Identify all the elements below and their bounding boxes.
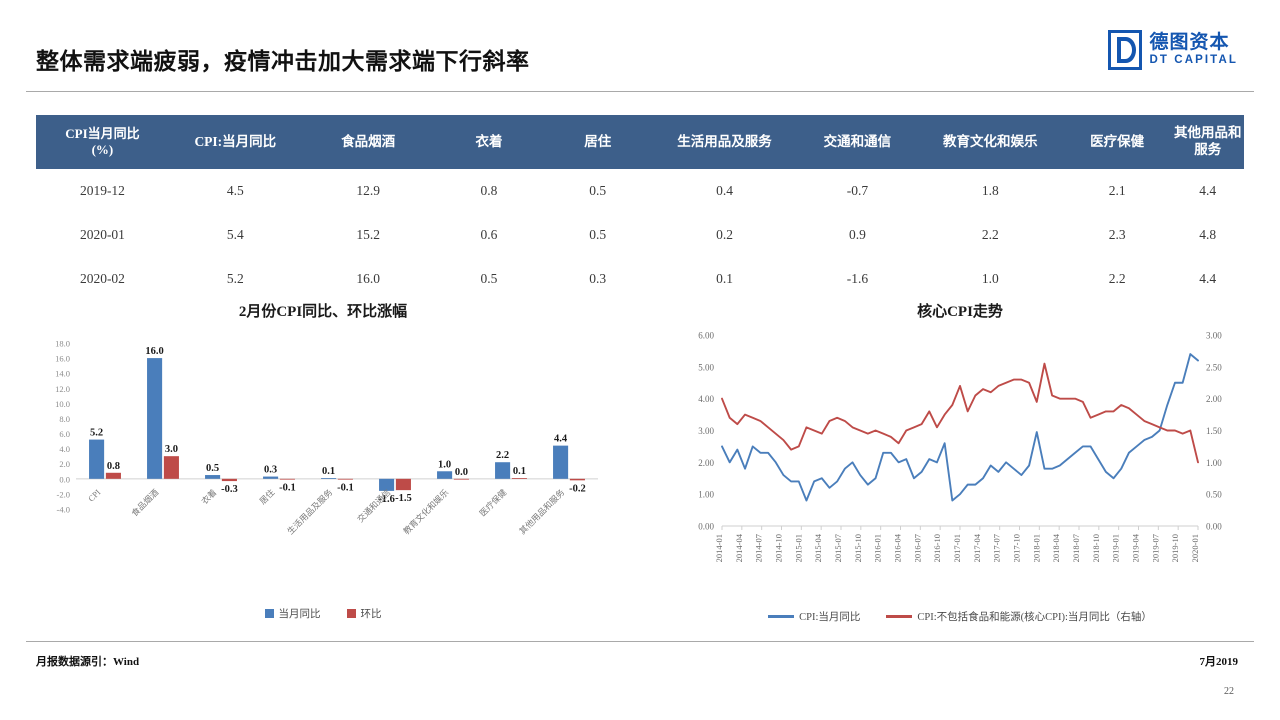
svg-text:5.2: 5.2 xyxy=(90,428,103,439)
svg-text:-2.0: -2.0 xyxy=(57,489,70,499)
table-cell: 4.5 xyxy=(169,169,302,213)
table-col-header-7: 教育文化和娱乐 xyxy=(918,115,1063,169)
table-cell: 15.2 xyxy=(302,213,435,257)
table-cell: 0.5 xyxy=(543,169,652,213)
legend-item-yoy: 当月同比 xyxy=(265,606,321,621)
svg-text:5.00: 5.00 xyxy=(698,362,714,372)
svg-text:2016-10: 2016-10 xyxy=(932,534,942,562)
svg-text:2019-04: 2019-04 xyxy=(1131,533,1141,562)
line-chart-plot-area: 6.005.004.003.002.001.000.003.002.502.00… xyxy=(660,321,1260,609)
svg-text:0.8: 0.8 xyxy=(107,461,120,472)
table-header: CPI当月同比(%)CPI:当月同比食品烟酒衣着居住生活用品及服务交通和通信教育… xyxy=(36,115,1244,169)
svg-text:2015-10: 2015-10 xyxy=(853,534,863,562)
svg-text:6.00: 6.00 xyxy=(698,331,714,341)
svg-text:12.0: 12.0 xyxy=(55,384,70,394)
svg-text:0.00: 0.00 xyxy=(1206,522,1222,532)
svg-text:-0.1: -0.1 xyxy=(279,483,296,494)
table-cell: 5.4 xyxy=(169,213,302,257)
svg-text:8.0: 8.0 xyxy=(59,414,70,424)
table-cell: 2.2 xyxy=(918,213,1063,257)
table-cell-period: 2020-02 xyxy=(36,257,169,301)
svg-text:2019-01: 2019-01 xyxy=(1111,534,1121,562)
svg-text:6.0: 6.0 xyxy=(59,429,70,439)
table-row: 2019-124.512.90.80.50.4-0.71.82.14.4 xyxy=(36,169,1244,213)
slide-header: 整体需求端疲弱，疫情冲击加大需求端下行斜率 德图资本 DT CAPITAL xyxy=(0,0,1280,92)
table-cell: 2.1 xyxy=(1063,169,1172,213)
table-cell: 1.8 xyxy=(918,169,1063,213)
svg-text:交通和通信: 交通和通信 xyxy=(355,487,392,524)
svg-text:16.0: 16.0 xyxy=(145,346,163,357)
table-col-header-1: CPI:当月同比 xyxy=(169,115,302,169)
svg-text:2017-04: 2017-04 xyxy=(972,533,982,562)
legend-label-yoy: 当月同比 xyxy=(279,606,321,621)
page-title: 整体需求端疲弱，疫情冲击加大需求端下行斜率 xyxy=(36,42,530,76)
svg-text:0.0: 0.0 xyxy=(455,467,468,478)
logo-name-en: DT CAPITAL xyxy=(1149,55,1238,67)
table-cell: 2.3 xyxy=(1063,213,1172,257)
svg-text:3.0: 3.0 xyxy=(165,444,178,455)
legend-label-mom: 环比 xyxy=(361,606,382,621)
table-cell: 0.6 xyxy=(435,213,544,257)
table-header-row: CPI当月同比(%)CPI:当月同比食品烟酒衣着居住生活用品及服务交通和通信教育… xyxy=(36,115,1244,169)
svg-text:2020-01: 2020-01 xyxy=(1190,534,1200,562)
table-col-header-5: 生活用品及服务 xyxy=(652,115,797,169)
legend-item-core-cpi: CPI:不包括食品和能源(核心CPI):当月同比（右轴） xyxy=(886,609,1152,624)
legend-swatch-yoy xyxy=(265,609,274,618)
svg-text:2.0: 2.0 xyxy=(59,459,70,469)
svg-text:-0.3: -0.3 xyxy=(221,484,238,495)
table-cell: 0.8 xyxy=(435,169,544,213)
svg-text:4.0: 4.0 xyxy=(59,444,70,454)
svg-text:-4.0: -4.0 xyxy=(57,505,70,515)
svg-text:18.0: 18.0 xyxy=(55,339,70,349)
footer-source: 月报数据源引：Wind xyxy=(36,653,139,669)
svg-text:2.00: 2.00 xyxy=(1206,394,1222,404)
table-cell: 4.8 xyxy=(1171,213,1244,257)
logo-name-cn: 德图资本 xyxy=(1149,33,1238,52)
company-logo: 德图资本 DT CAPITAL xyxy=(1108,27,1238,73)
svg-text:CPI: CPI xyxy=(86,487,103,504)
svg-text:2017-01: 2017-01 xyxy=(952,534,962,562)
svg-text:2019-10: 2019-10 xyxy=(1170,534,1180,562)
svg-text:2016-07: 2016-07 xyxy=(912,534,922,562)
footer-divider xyxy=(26,641,1254,642)
table-cell: 0.4 xyxy=(652,169,797,213)
legend-label-cpi: CPI:当月同比 xyxy=(799,609,860,624)
svg-text:2015-04: 2015-04 xyxy=(813,533,823,562)
svg-text:0.0: 0.0 xyxy=(59,474,70,484)
svg-text:0.00: 0.00 xyxy=(698,522,714,532)
table-col-header-3: 衣着 xyxy=(435,115,544,169)
svg-text:16.0: 16.0 xyxy=(55,354,70,364)
logo-mark-icon xyxy=(1108,30,1142,70)
svg-text:2.2: 2.2 xyxy=(496,450,509,461)
table-row: 2020-025.216.00.50.30.1-1.61.02.24.4 xyxy=(36,257,1244,301)
bar-chart-cpi-feb: 2月份CPI同比、环比涨幅 18.016.014.012.010.08.06.0… xyxy=(28,300,618,630)
legend-item-mom: 环比 xyxy=(347,606,382,621)
svg-text:2018-10: 2018-10 xyxy=(1091,534,1101,562)
bar-chart-plot-area: 18.016.014.012.010.08.06.04.02.00.0-2.0-… xyxy=(28,321,618,606)
slide: 整体需求端疲弱，疫情冲击加大需求端下行斜率 德图资本 DT CAPITAL CP… xyxy=(0,0,1280,720)
table-cell: 0.5 xyxy=(543,213,652,257)
table-col-header-0: CPI当月同比(%) xyxy=(36,115,169,169)
svg-text:2014-01: 2014-01 xyxy=(714,534,724,562)
svg-text:2016-04: 2016-04 xyxy=(893,533,903,562)
table-cell: 0.3 xyxy=(543,257,652,301)
line-chart-legend: CPI:当月同比 CPI:不包括食品和能源(核心CPI):当月同比（右轴） xyxy=(660,609,1260,624)
svg-text:生活用品及服务: 生活用品及服务 xyxy=(285,487,334,536)
svg-text:2018-01: 2018-01 xyxy=(1031,534,1041,562)
svg-text:1.00: 1.00 xyxy=(1206,458,1222,468)
table-cell: 12.9 xyxy=(302,169,435,213)
svg-text:14.0: 14.0 xyxy=(55,369,70,379)
svg-text:-0.1: -0.1 xyxy=(337,483,354,494)
table-cell: 1.0 xyxy=(918,257,1063,301)
svg-text:1.00: 1.00 xyxy=(698,490,714,500)
svg-text:食品烟酒: 食品烟酒 xyxy=(129,487,160,518)
svg-text:4.4: 4.4 xyxy=(554,434,568,445)
svg-text:2015-07: 2015-07 xyxy=(833,534,843,562)
table-cell: 0.2 xyxy=(652,213,797,257)
table-cell: 16.0 xyxy=(302,257,435,301)
bar-chart-legend: 当月同比 环比 xyxy=(28,606,618,621)
svg-text:2014-07: 2014-07 xyxy=(754,534,764,562)
svg-text:4.00: 4.00 xyxy=(698,394,714,404)
svg-text:2015-01: 2015-01 xyxy=(793,534,803,562)
svg-text:0.1: 0.1 xyxy=(513,466,526,477)
table-col-header-2: 食品烟酒 xyxy=(302,115,435,169)
table-cell: -0.7 xyxy=(797,169,918,213)
svg-text:0.1: 0.1 xyxy=(322,466,335,477)
bar-chart-svg: 18.016.014.012.010.08.06.04.02.00.0-2.0-… xyxy=(28,321,618,601)
legend-swatch-mom xyxy=(347,609,356,618)
svg-text:2017-10: 2017-10 xyxy=(1012,534,1022,562)
line-chart-core-cpi: 核心CPI走势 6.005.004.003.002.001.000.003.00… xyxy=(660,300,1260,630)
header-divider xyxy=(26,91,1254,92)
table-col-header-4: 居住 xyxy=(543,115,652,169)
table-cell: 4.4 xyxy=(1171,257,1244,301)
legend-swatch-core-cpi xyxy=(886,615,912,618)
svg-text:2.00: 2.00 xyxy=(698,458,714,468)
logo-text: 德图资本 DT CAPITAL xyxy=(1149,33,1238,67)
table-col-header-8: 医疗保健 xyxy=(1063,115,1172,169)
table-cell: 0.1 xyxy=(652,257,797,301)
line-chart-svg: 6.005.004.003.002.001.000.003.002.502.00… xyxy=(660,321,1260,604)
svg-text:2016-01: 2016-01 xyxy=(873,534,883,562)
footer-date: 7月2019 xyxy=(1200,653,1239,669)
svg-text:2018-07: 2018-07 xyxy=(1071,534,1081,562)
table-cell: -1.6 xyxy=(797,257,918,301)
legend-item-cpi: CPI:当月同比 xyxy=(768,609,860,624)
table-cell: 2.2 xyxy=(1063,257,1172,301)
svg-text:2014-04: 2014-04 xyxy=(734,533,744,562)
svg-text:2017-07: 2017-07 xyxy=(992,534,1002,562)
svg-text:2018-04: 2018-04 xyxy=(1051,533,1061,562)
table-cell-period: 2019-12 xyxy=(36,169,169,213)
table-cell: 0.5 xyxy=(435,257,544,301)
svg-text:3.00: 3.00 xyxy=(1206,331,1222,341)
table-cell: 0.9 xyxy=(797,213,918,257)
svg-text:1.0: 1.0 xyxy=(438,459,451,470)
table-cell: 5.2 xyxy=(169,257,302,301)
svg-text:1.50: 1.50 xyxy=(1206,426,1222,436)
svg-text:3.00: 3.00 xyxy=(698,426,714,436)
svg-text:0.3: 0.3 xyxy=(264,465,277,476)
cpi-table: CPI当月同比(%)CPI:当月同比食品烟酒衣着居住生活用品及服务交通和通信教育… xyxy=(36,115,1244,301)
legend-label-core-cpi: CPI:不包括食品和能源(核心CPI):当月同比（右轴） xyxy=(917,609,1152,624)
legend-swatch-cpi xyxy=(768,615,794,618)
table-col-header-6: 交通和通信 xyxy=(797,115,918,169)
table-body: 2019-124.512.90.80.50.4-0.71.82.14.42020… xyxy=(36,169,1244,301)
svg-text:2019-07: 2019-07 xyxy=(1150,534,1160,562)
svg-text:居住: 居住 xyxy=(257,487,276,506)
table-col-header-9: 其他用品和服务 xyxy=(1171,115,1244,169)
page-number: 22 xyxy=(1224,686,1234,697)
svg-text:2.50: 2.50 xyxy=(1206,362,1222,372)
svg-text:医疗保健: 医疗保健 xyxy=(477,487,508,518)
svg-text:2014-10: 2014-10 xyxy=(774,534,784,562)
table-row: 2020-015.415.20.60.50.20.92.22.34.8 xyxy=(36,213,1244,257)
svg-text:0.5: 0.5 xyxy=(206,463,219,474)
table-cell-period: 2020-01 xyxy=(36,213,169,257)
line-chart-title: 核心CPI走势 xyxy=(660,300,1260,321)
svg-text:10.0: 10.0 xyxy=(55,399,70,409)
svg-text:其他用品和服务: 其他用品和服务 xyxy=(517,487,566,536)
bar-chart-title: 2月份CPI同比、环比涨幅 xyxy=(28,300,618,321)
svg-text:-0.2: -0.2 xyxy=(569,483,586,494)
svg-text:-1.5: -1.5 xyxy=(395,493,412,504)
table-cell: 4.4 xyxy=(1171,169,1244,213)
svg-text:0.50: 0.50 xyxy=(1206,490,1222,500)
svg-text:衣着: 衣着 xyxy=(199,487,218,506)
